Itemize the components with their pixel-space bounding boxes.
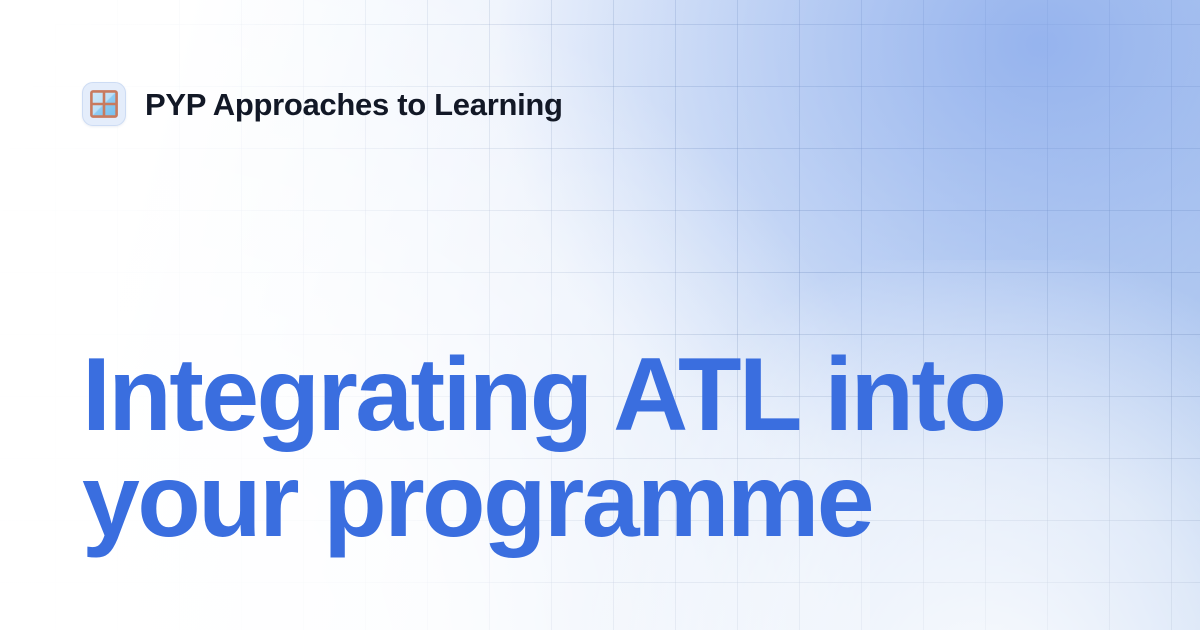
brand-row: PYP Approaches to Learning [82, 82, 563, 126]
page-title-line-2: your programme [82, 448, 1004, 554]
brand-label: PYP Approaches to Learning [145, 89, 563, 120]
brand-icon-badge [82, 82, 126, 126]
page-title-line-1: Integrating ATL into [82, 342, 1004, 448]
card-content: PYP Approaches to Learning Integrating A… [0, 0, 1200, 630]
og-card: PYP Approaches to Learning Integrating A… [0, 0, 1200, 630]
window-grid-icon [90, 90, 118, 118]
page-title: Integrating ATL into your programme [82, 342, 1004, 554]
